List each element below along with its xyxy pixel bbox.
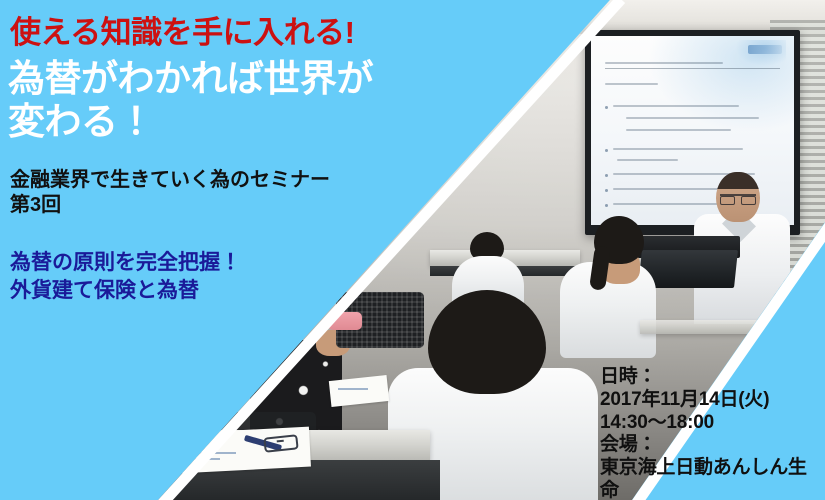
slide-heading-text [605, 62, 723, 64]
subtitle-topic: 為替の原則を完全把握！ 外貨建て保険と為替 [10, 249, 241, 304]
slide-body-text [613, 148, 743, 150]
presenter-glasses [720, 194, 756, 203]
slide-bullet [605, 149, 608, 152]
headline-red: 使える知識を手に入れる! [10, 17, 354, 48]
slide-subheading-text [605, 83, 658, 85]
slide-bullet [605, 204, 608, 207]
slide-bullet [605, 174, 608, 177]
headline-white: 為替がわかれば世界が 変わる！ [8, 57, 373, 144]
paper-marking [338, 388, 368, 390]
slide-bullet [605, 106, 608, 109]
projection-screen [591, 36, 794, 225]
slide-body-text [613, 203, 731, 205]
slide-bullet [605, 189, 608, 192]
event-details: 日時： 2017年11月14日(火) 14:30〜18:00 会場： 東京海上日… [600, 366, 825, 500]
slide-body-text [626, 117, 760, 119]
subtitle-series: 金融業界で生きていく為のセミナー 第3回 [10, 168, 330, 218]
ceiling-band [430, 0, 825, 34]
projection-screen-frame [585, 30, 800, 235]
slide-logo [748, 45, 782, 54]
seminar-banner: 使える知識を手に入れる! 為替がわかれば世界が 変わる！ 金融業界で生きていく為… [0, 0, 825, 500]
slide-body-text [613, 105, 739, 107]
slide-body-text [626, 129, 732, 131]
slide-body-text [617, 159, 678, 161]
desk [640, 320, 825, 334]
slide-body-text [613, 188, 725, 190]
slide-title-rule [605, 68, 780, 69]
